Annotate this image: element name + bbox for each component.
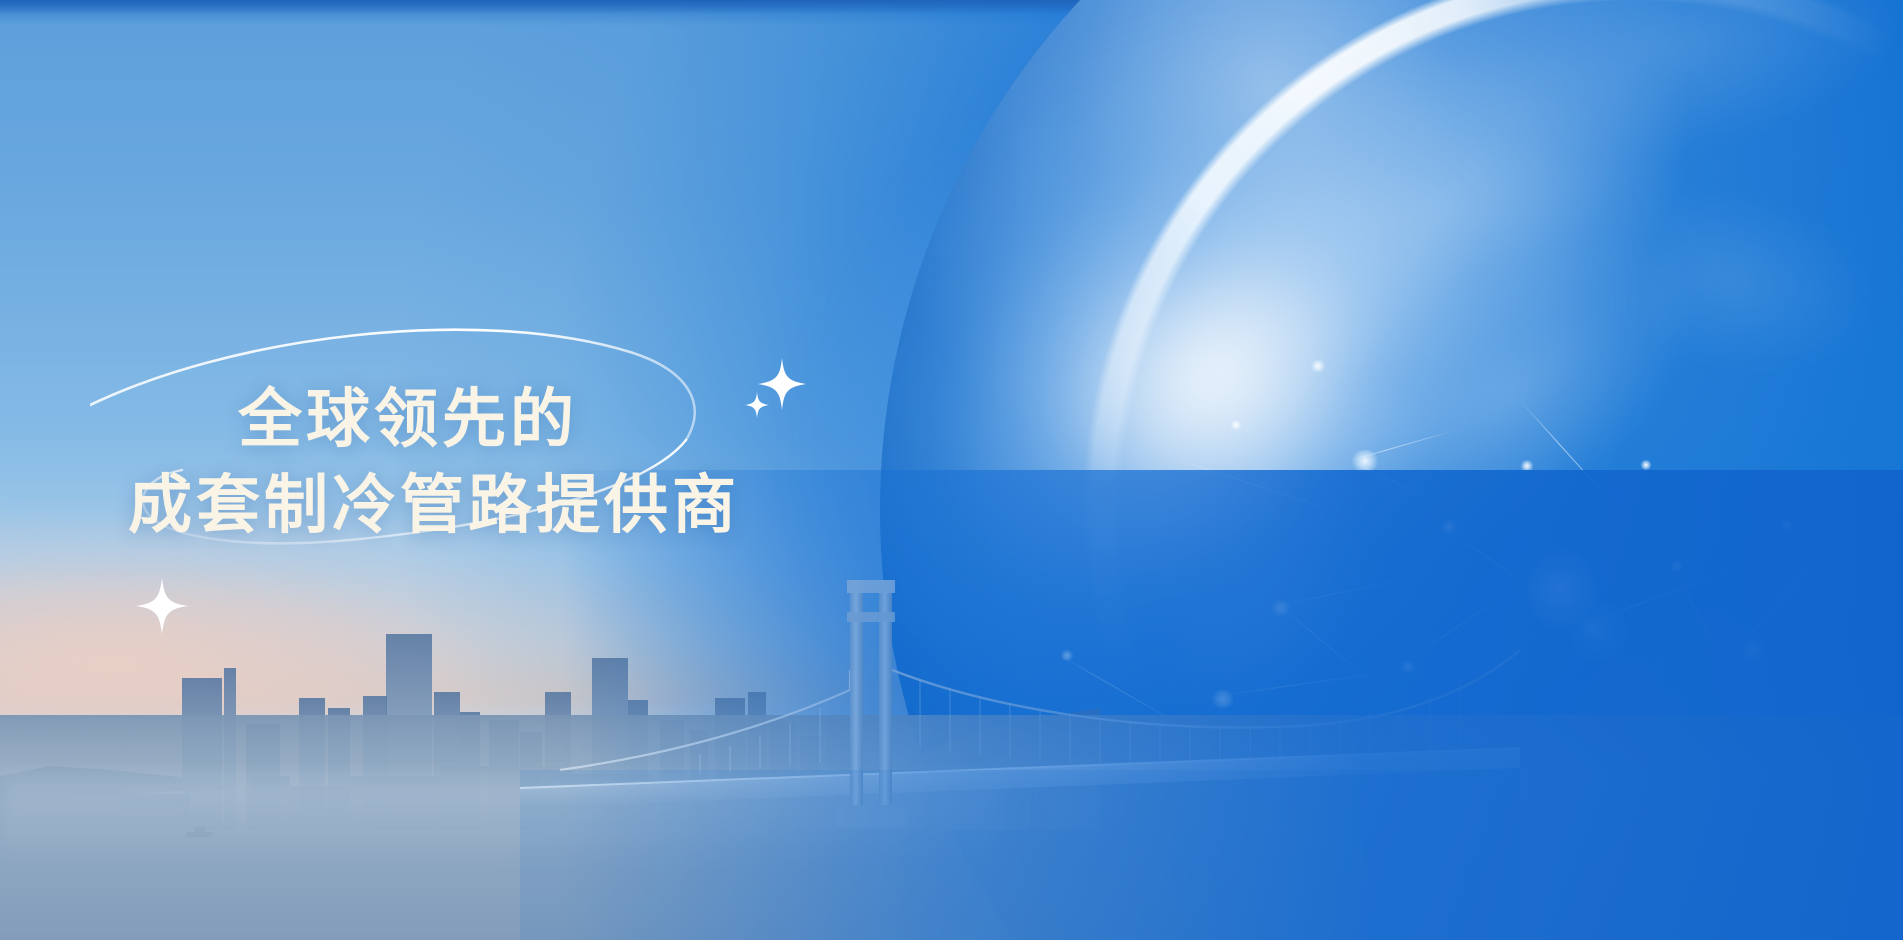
- hero-headline: 全球领先的 成套制冷管路提供商: [128, 376, 888, 548]
- headline-line-2: 成套制冷管路提供商: [128, 462, 888, 548]
- top-edge-band: [0, 0, 1903, 14]
- hero-banner: 全球领先的 成套制冷管路提供商: [0, 0, 1903, 940]
- headline-line-1: 全球领先的: [238, 376, 888, 462]
